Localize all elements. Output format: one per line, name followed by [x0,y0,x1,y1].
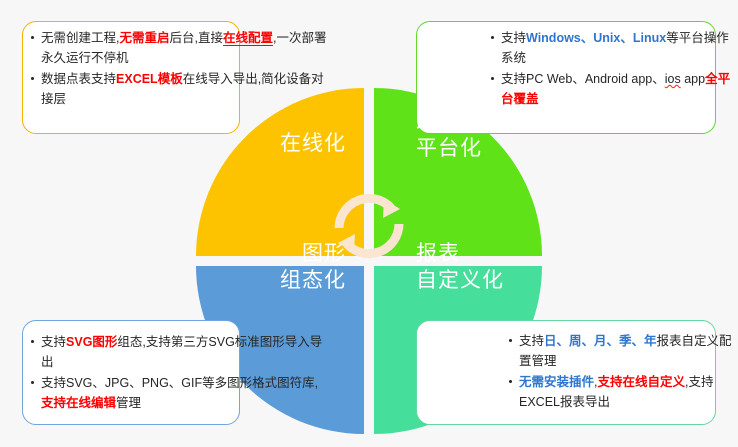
bullet-text-segment: 支持在线自定义 [598,375,686,389]
info-box-cross-platform-content: 支持Windows、Unix、Linux等平台操作系统支持PC Web、Andr… [490,28,738,110]
bullet-text-segment: 支持SVG、JPG、PNG、GIF等多图形格式图符库, [41,376,318,390]
bullet-text-segment: SVG图形 [66,335,117,349]
bullet-list-online: 无需创建工程,无需重启后台,直接在线配置,一次部署永久运行不停机数据点表支持EX… [30,28,330,109]
bullet-item: 支持Windows、Unix、Linux等平台操作系统 [490,28,738,68]
bullet-text-segment: 无需安装插件 [519,375,594,389]
bullet-list-report-custom: 支持日、周、月、季、年报表自定义配置管理无需安装插件,支持在线自定义,支持EXC… [508,331,738,412]
bullet-text-segment: 后台, [170,31,198,45]
bullet-item: 无需创建工程,无需重启后台,直接在线配置,一次部署永久运行不停机 [30,28,330,68]
info-box-report-custom-content: 支持日、周、月、季、年报表自定义配置管理无需安装插件,支持在线自定义,支持EXC… [508,331,738,413]
bullet-item: 支持SVG、JPG、PNG、GIF等多图形格式图符库,支持在线编辑管理 [30,373,330,413]
info-box-graphic-config-content: 支持SVG图形组态,支持第三方SVG标准图形导入导出支持SVG、JPG、PNG、… [30,332,330,414]
infographic-canvas: 在线化 跨 平台化 图形 组态化 报表 自定义化 无需创建工程,无需重启后台,直… [0,0,738,447]
bullet-text-segment: 支持 [501,31,526,45]
bullet-item: 数据点表支持EXCEL模板在线导入导出,简化设备对接层 [30,69,330,109]
bullet-item: 无需安装插件,支持在线自定义,支持EXCEL报表导出 [508,372,738,412]
bullet-text-segment: app [681,72,705,86]
bullet-text-segment: 无需重启 [119,31,169,45]
bullet-text-segment: EXCEL模板 [116,72,183,86]
bullet-text-segment: Windows、Unix、Linux [526,31,666,45]
bullet-list-graphic-config: 支持SVG图形组态,支持第三方SVG标准图形导入导出支持SVG、JPG、PNG、… [30,332,330,413]
bullet-item: 支持PC Web、Android app、ios app全平台覆盖 [490,69,738,109]
info-box-online-content: 无需创建工程,无需重启后台,直接在线配置,一次部署永久运行不停机数据点表支持EX… [30,28,330,110]
bullet-text-segment: 在线配置 [223,31,273,46]
cycle-arrows-icon [331,188,407,264]
bullet-list-cross-platform: 支持Windows、Unix、Linux等平台操作系统支持PC Web、Andr… [490,28,738,109]
bullet-text-segment: 支持 [519,334,544,348]
bullet-item: 支持SVG图形组态,支持第三方SVG标准图形导入导出 [30,332,330,372]
bullet-text-segment: 管理 [116,396,141,410]
bullet-text-segment: 数据点表支持 [41,72,116,86]
bullet-text-segment: ios [665,72,681,86]
bullet-text-segment: 无需创建工程, [41,31,119,45]
bullet-text-segment: 直接 [198,31,223,45]
bullet-text-segment: 支持在线编辑 [41,396,116,410]
bullet-text-segment: 支持 [41,335,66,349]
bullet-item: 支持日、周、月、季、年报表自定义配置管理 [508,331,738,371]
bullet-text-segment: 支持PC Web、Android app、 [501,72,665,86]
bullet-text-segment: 日、周、月、季、年 [544,334,657,348]
